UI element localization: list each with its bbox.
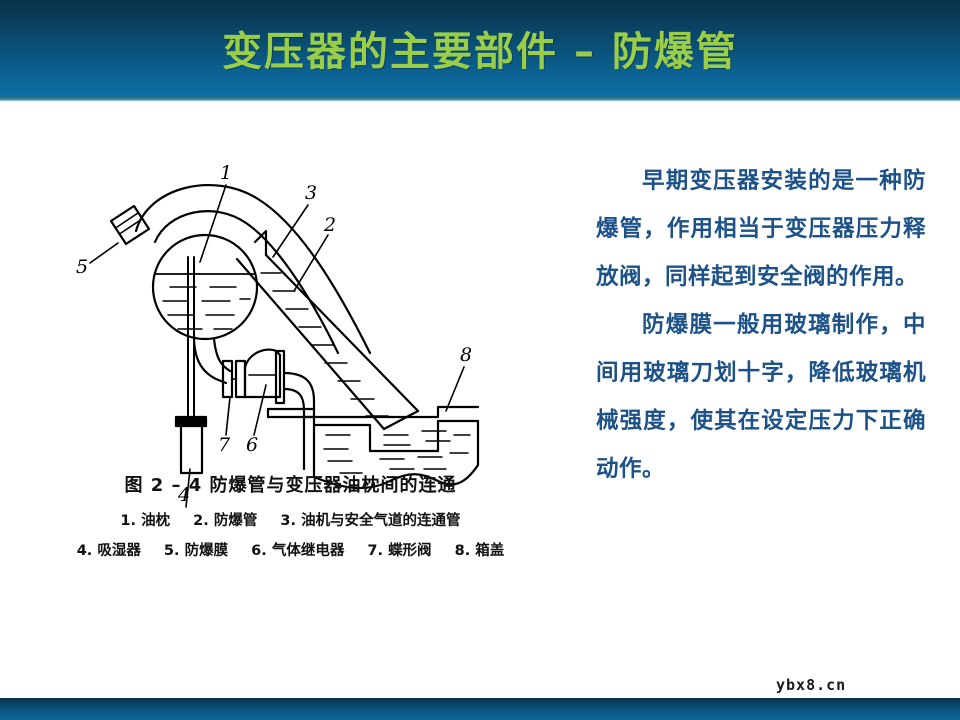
legend-item-4-label: 吸湿器 (97, 543, 141, 559)
legend-item-6-label: 气体继电器 (272, 543, 345, 559)
legend-item-5: 5. 防爆膜 (164, 543, 233, 559)
page-title: 变压器的主要部件 – 防爆管 (0, 0, 960, 96)
legend-item-8: 8. 箱盖 (455, 543, 505, 559)
explosion-tube-upper-edge (266, 255, 418, 411)
body-paragraph-2: 防爆膜一般用玻璃制作，中间用玻璃刀划十字，降低玻璃机械强度，使其在设定压力下正确… (596, 301, 926, 493)
callout-7: 7 (218, 434, 231, 456)
legend-item-1-label: 油枕 (141, 513, 170, 529)
legend-item-5-number: 5. (164, 543, 180, 559)
explosion-vent-diagram-svg: 1 2 3 4 5 6 7 8 (18, 139, 563, 509)
legend-item-7-label: 蝶形阀 (388, 543, 432, 559)
legend-item-5-label: 防爆膜 (185, 543, 229, 559)
tank-cover-top-edge (304, 407, 478, 417)
explosion-membrane (111, 206, 149, 244)
legend-item-2-label: 防爆管 (214, 513, 258, 529)
legend-item-3-number: 3. (280, 513, 296, 529)
callout-leader-lines (90, 185, 464, 507)
explosion-tube-lower-edge (237, 259, 384, 429)
figure-legend-row-2: 4. 吸湿器 5. 防爆膜 6. 气体继电器 7. 蝶形阀 8. 箱盖 (18, 539, 563, 560)
legend-item-1: 1. 油枕 (120, 513, 175, 529)
figure-caption-block: 图 2 – 4 防爆管与变压器油枕间的连通 1. 油枕 2. 防爆管 3. 油机… (18, 471, 563, 569)
tank-cover-inner-step (314, 421, 478, 451)
butterfly-valve (223, 361, 245, 397)
dehumidifier-body (181, 426, 202, 473)
slide-footer-bar (0, 698, 960, 720)
conservator-downpipe (194, 336, 226, 383)
tank-pipe-flange (268, 409, 314, 417)
body-paragraph-1: 早期变压器安装的是一种防爆管，作用相当于变压器压力释放阀，同样起到安全阀的作用。 (596, 157, 926, 301)
figure-caption-title: 图 2 – 4 防爆管与变压器油枕间的连通 (18, 471, 563, 497)
explosion-tube-open-end (384, 411, 418, 429)
callout-2: 2 (323, 214, 336, 236)
legend-item-1-number: 1. (120, 513, 136, 529)
callout-8: 8 (460, 344, 472, 366)
callout-numbers: 1 2 3 4 5 6 7 8 (76, 162, 472, 506)
legend-item-6-number: 6. (251, 543, 267, 559)
callout-3: 3 (305, 182, 317, 204)
legend-item-2-number: 2. (193, 513, 209, 529)
legend-item-2: 2. 防爆管 (193, 513, 262, 529)
legend-item-4: 4. 吸湿器 (77, 543, 146, 559)
dehumidifier-cap (176, 417, 206, 426)
gas-relay (245, 350, 284, 403)
air-duct-inner-curve (155, 211, 338, 353)
figure-legend-row-1: 1. 油枕 2. 防爆管 3. 油机与安全气道的连通管 (18, 509, 563, 530)
site-watermark: ybx8.cn (776, 676, 846, 694)
callout-5: 5 (76, 256, 88, 278)
legend-item-3-label: 油机与安全气道的连通管 (301, 513, 461, 529)
conservator-body (153, 235, 257, 339)
legend-item-4-number: 4. (77, 543, 93, 559)
legend-item-6: 6. 气体继电器 (251, 543, 349, 559)
callout-1: 1 (220, 162, 232, 184)
body-text-panel: 早期变压器安装的是一种防爆管，作用相当于变压器压力释放阀，同样起到安全阀的作用。… (596, 157, 926, 493)
legend-item-3: 3. 油机与安全气道的连通管 (280, 513, 460, 529)
legend-item-7: 7. 蝶形阀 (367, 543, 436, 559)
conservator-oil-hatching (163, 287, 250, 329)
legend-item-8-label: 箱盖 (475, 543, 504, 559)
relay-to-tank-pipe-inner (284, 389, 304, 469)
legend-item-7-number: 7. (367, 543, 383, 559)
legend-item-8-number: 8. (455, 543, 471, 559)
callout-6: 6 (246, 434, 258, 456)
slide-content-area: 1 2 3 4 5 6 7 8 图 2 – 4 防爆管与变压器油枕间的连通 1.… (0, 101, 960, 698)
